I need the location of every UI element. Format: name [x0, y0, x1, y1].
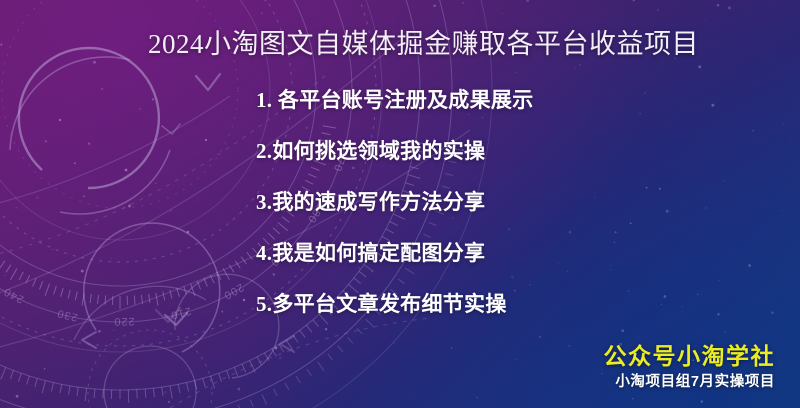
list-item: 1. 各平台账号注册及成果展示	[256, 86, 534, 114]
brand-subtitle: 小淘项目组7月实操项目	[604, 372, 776, 392]
brand-name: 公众号小淘学社	[604, 343, 776, 370]
presentation-slide: 170180190200210220230240250260 2024小淘图文自…	[0, 0, 800, 408]
footer-branding: 公众号小淘学社 小淘项目组7月实操项目	[604, 343, 776, 392]
list-item: 2.如何挑选领域我的实操	[256, 137, 534, 165]
list-item: 5.多平台文章发布细节实操	[256, 290, 534, 318]
list-item: 3.我的速成写作方法分享	[256, 188, 534, 216]
agenda-list: 1. 各平台账号注册及成果展示 2.如何挑选领域我的实操 3.我的速成写作方法分…	[256, 86, 534, 318]
page-title: 2024小淘图文自媒体掘金赚取各平台收益项目	[148, 27, 699, 61]
list-item: 4.我是如何搞定配图分享	[256, 239, 534, 267]
